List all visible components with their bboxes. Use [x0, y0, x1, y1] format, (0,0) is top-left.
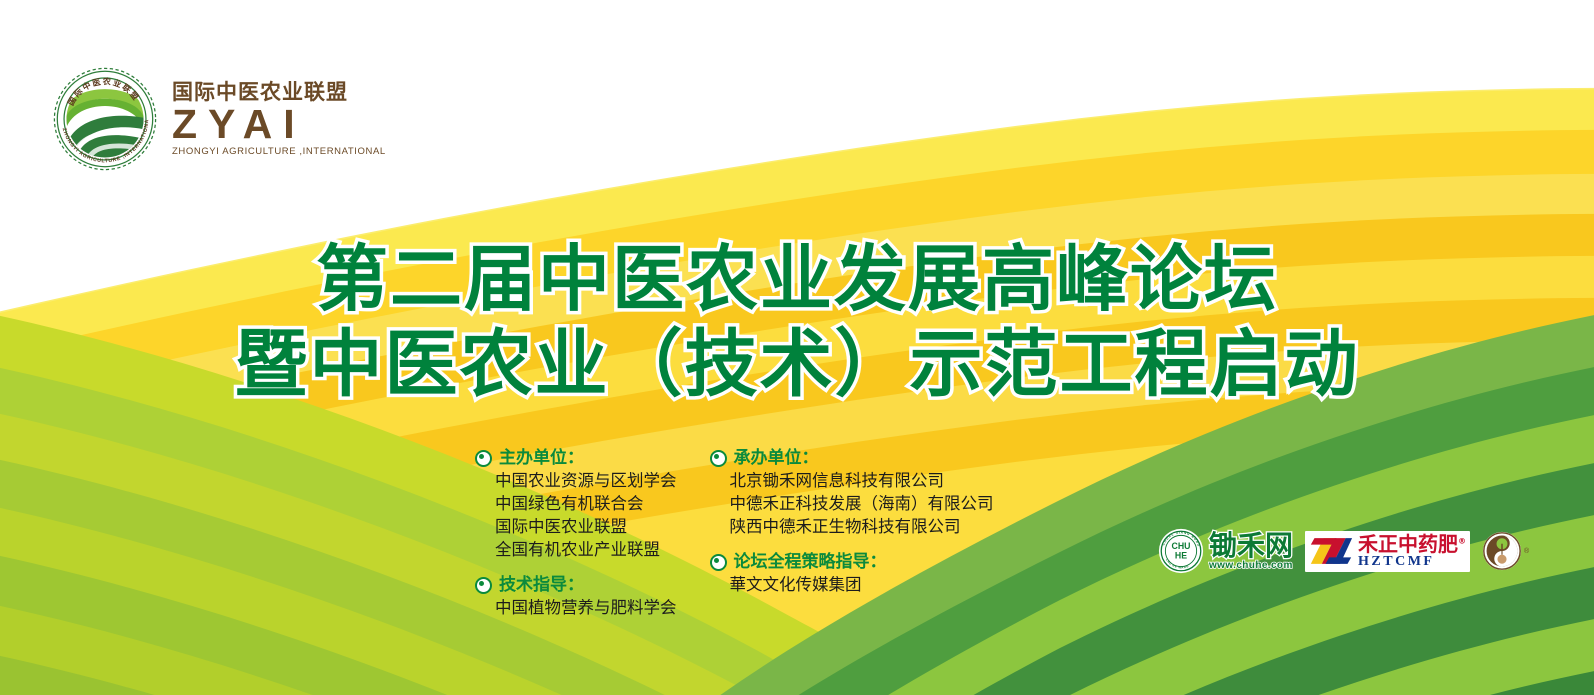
poster-canvas: 国际中医农业联盟 ZHONGYI AGRICULTURE ,INTERNATIO… — [0, 0, 1594, 695]
ring-dot-bullet-icon — [475, 450, 492, 467]
credit-heading-label: 论坛全程策略指导： — [734, 551, 887, 573]
hzt-z-mark-icon — [1309, 536, 1353, 566]
credit-group-technical-guidance: 技术指导： 中国植物营养与肥料学会 — [475, 574, 677, 619]
credit-heading: 主办单位： — [475, 447, 677, 469]
sponsor-chuhe: CHU HE CHUHE XIANG NONG CHU HE WANG 锄禾网 … — [1158, 528, 1293, 574]
credits-left-column: 主办单位： 中国农业资源与区划学会 中国绿色有机联合会 国际中医农业联盟 全国有… — [475, 447, 677, 619]
zyai-logo-lockup: 国际中医农业联盟 ZHONGYI AGRICULTURE ,INTERNATIO… — [52, 66, 386, 172]
credit-group-co-organizers: 承办单位： 北京锄禾网信息科技有限公司 中德禾正科技发展（海南）有限公司 陕西中… — [710, 447, 994, 538]
credit-item: 北京锄禾网信息科技有限公司 — [730, 469, 994, 492]
chuhe-circle-logo-icon: CHU HE CHUHE XIANG NONG CHU HE WANG — [1158, 528, 1204, 574]
sponsor-hezheng: 禾正中药肥® HZTCMF — [1305, 531, 1470, 572]
credit-item: 中国植物营养与肥料学会 — [495, 596, 677, 619]
credit-item: 華文文化传媒集团 — [730, 573, 994, 596]
credit-heading: 承办单位： — [710, 447, 994, 469]
sponsor-tree-seal: ® — [1482, 531, 1529, 571]
credit-item: 陕西中德禾正生物科技有限公司 — [730, 515, 994, 538]
zyai-acronym: ZYAI — [172, 105, 386, 144]
credit-group-strategy-guidance: 论坛全程策略指导： 華文文化传媒集团 — [710, 551, 994, 596]
credit-heading: 技术指导： — [475, 574, 677, 596]
credit-heading: 论坛全程策略指导： — [710, 551, 994, 573]
credit-heading-label: 承办单位： — [734, 447, 819, 469]
credits-block: 主办单位： 中国农业资源与区划学会 中国绿色有机联合会 国际中医农业联盟 全国有… — [475, 447, 994, 619]
sponsor-hezheng-name-en: HZTCMF — [1358, 555, 1466, 569]
ring-dot-bullet-icon — [475, 577, 492, 594]
svg-text:HE: HE — [1175, 550, 1187, 560]
registered-mark-icon: ® — [1524, 548, 1529, 555]
ring-dot-bullet-icon — [710, 554, 727, 571]
sponsor-chuhe-name: 锄禾网 — [1209, 532, 1293, 560]
zyai-name-en: ZHONGYI AGRICULTURE ,INTERNATIONAL — [172, 147, 386, 157]
registered-mark-icon: ® — [1458, 536, 1466, 545]
zyai-name-cn: 国际中医农业联盟 — [172, 82, 386, 103]
credit-heading-label: 技术指导： — [499, 574, 584, 596]
credit-item: 全国有机农业产业联盟 — [495, 538, 677, 561]
sponsor-hezheng-name: 禾正中药肥® — [1358, 534, 1466, 554]
credit-item: 国际中医农业联盟 — [495, 515, 677, 538]
ring-dot-bullet-icon — [710, 450, 727, 467]
sponsor-logo-row: CHU HE CHUHE XIANG NONG CHU HE WANG 锄禾网 … — [1158, 528, 1529, 574]
credit-group-organizers: 主办单位： 中国农业资源与区划学会 中国绿色有机联合会 国际中医农业联盟 全国有… — [475, 447, 677, 561]
credit-item: 中国绿色有机联合会 — [495, 492, 677, 515]
zyai-seal-icon: 国际中医农业联盟 ZHONGYI AGRICULTURE ,INTERNATIO… — [52, 66, 158, 172]
credit-item: 中国农业资源与区划学会 — [495, 469, 677, 492]
credits-right-column: 承办单位： 北京锄禾网信息科技有限公司 中德禾正科技发展（海南）有限公司 陕西中… — [710, 447, 994, 619]
tree-yinyang-seal-icon — [1482, 531, 1522, 571]
sponsor-chuhe-url: www.chuhe.com — [1209, 561, 1293, 571]
credit-heading-label: 主办单位： — [499, 447, 584, 469]
zyai-logo-text: 国际中医农业联盟 ZYAI ZHONGYI AGRICULTURE ,INTER… — [172, 82, 386, 156]
credit-item: 中德禾正科技发展（海南）有限公司 — [730, 492, 994, 515]
